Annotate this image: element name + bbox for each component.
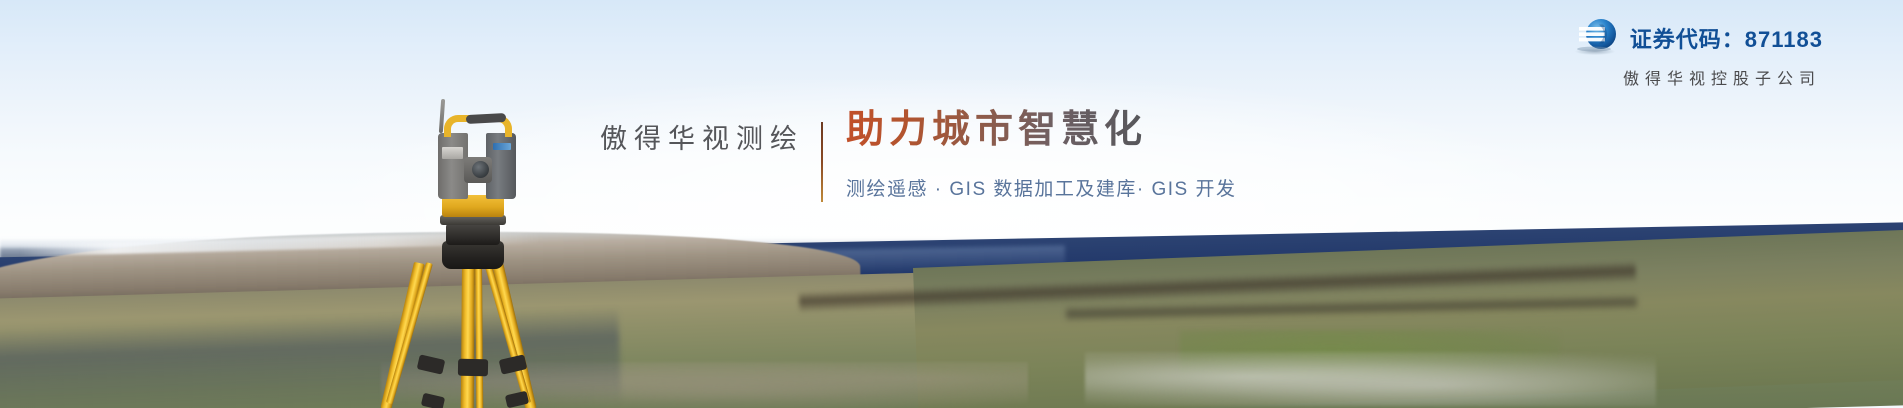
company-globe-logo-icon [1574,18,1618,58]
tripod-clamp-center [458,359,488,377]
hero-banner: 傲得华视测绘 助力城市智慧化 测绘遥感 · GIS 数据加工及建库· GIS 开… [0,0,1903,408]
tripod-leg-right [492,262,536,408]
telescope-lens-icon [472,161,489,178]
tripod-clamp-left-lower [421,393,445,408]
stock-code-row: 证券代码：871183 [1574,18,1823,58]
tripod-leg-center-inner [475,265,483,408]
instrument-display-panel [442,147,463,159]
tripod-leg-left [380,262,424,408]
stock-code-label: 证券代码：871183 [1630,22,1823,54]
instrument-brand-stripe [493,143,511,150]
page-title: 助力城市智慧化 [846,98,1147,153]
services-subtitle: 测绘遥感 · GIS 数据加工及建库· GIS 开发 [846,174,1237,201]
total-station-on-tripod [380,95,560,408]
tribrach [446,223,500,245]
logo-shadow [1575,48,1615,55]
stock-info-block: 证券代码：871183 傲得华视控股子公司 [1574,18,1823,89]
tripod-leg-center [461,263,475,408]
tripod-head [442,241,504,269]
vertical-divider [821,122,823,202]
company-name-label: 傲得华视测绘 [600,117,804,156]
tripod-clamp-left [417,354,446,374]
subsidiary-label: 傲得华视控股子公司 [1574,65,1823,89]
town-settlement [1085,352,1656,406]
